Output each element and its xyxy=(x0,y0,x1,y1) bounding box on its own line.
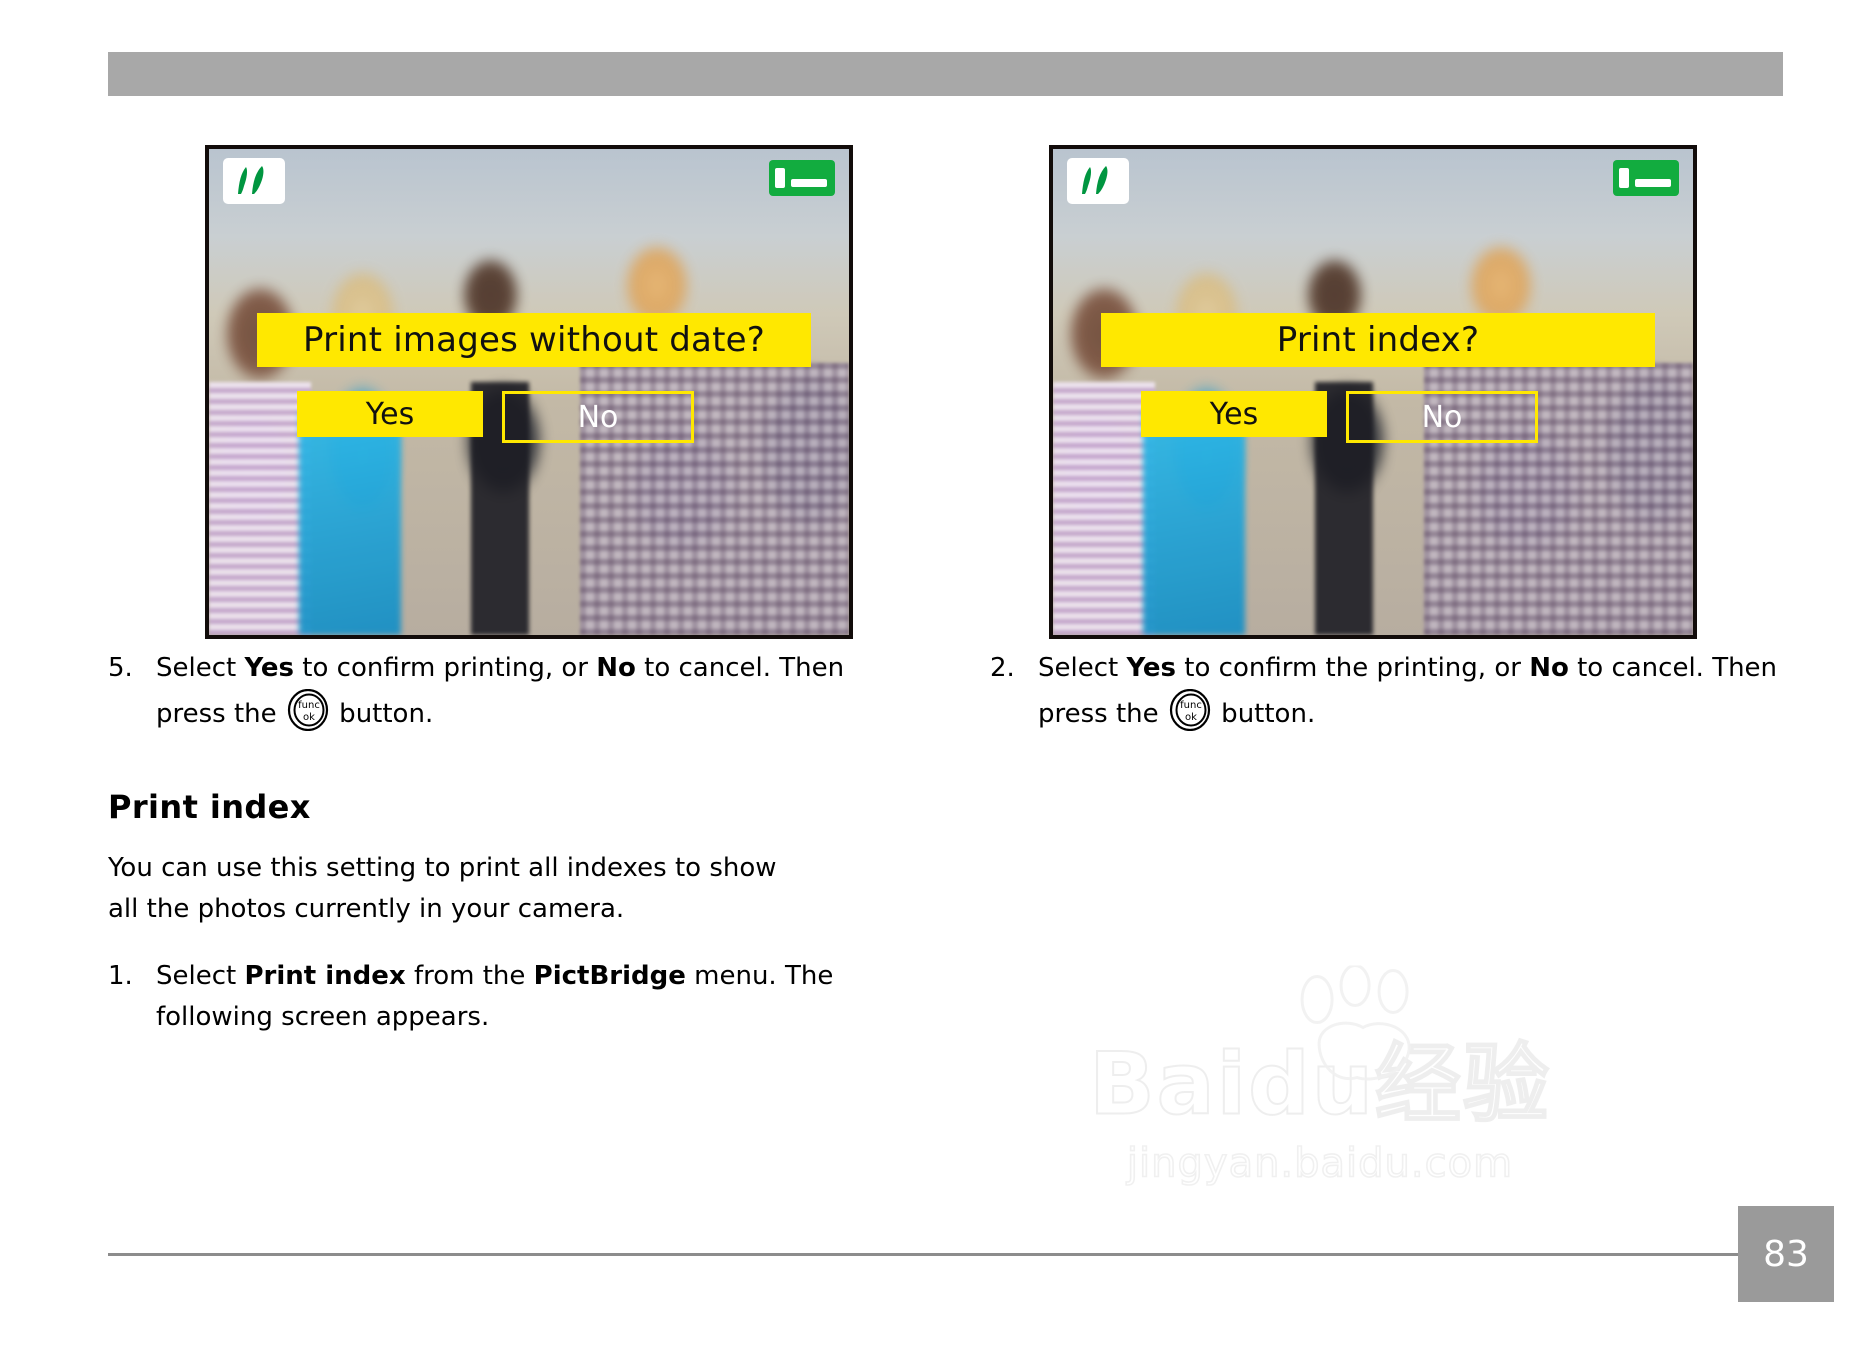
step-1-bold-pictbridge: PictBridge xyxy=(534,961,686,991)
print-index-description: You can use this setting to print all in… xyxy=(108,848,808,930)
func-ok-button-icon: func ok xyxy=(287,689,329,731)
step-5-part2: to confirm printing, or xyxy=(294,653,596,683)
right-text-column: 2. Select Yes to confirm the printing, o… xyxy=(990,648,1790,740)
func-ok-button-icon: func ok xyxy=(1169,689,1211,731)
left-text-column: 5. Select Yes to confirm printing, or No… xyxy=(108,648,898,1043)
section-heading-print-index: Print index xyxy=(108,788,898,826)
camera-screen-print-images-without-date: Print images without date? Yes No xyxy=(205,145,853,639)
dialog-title-print-index: Print index? xyxy=(1101,313,1655,367)
step-2: 2. Select Yes to confirm the printing, o… xyxy=(990,648,1790,734)
dialog-yes-button[interactable]: Yes xyxy=(297,391,483,437)
baidu-paw-icon xyxy=(1289,966,1439,1096)
watermark-sub-text: jingyan.baidu.com xyxy=(1089,1141,1551,1187)
footer-divider xyxy=(108,1253,1783,1256)
step-5-part1: Select xyxy=(156,653,244,683)
step-1-number: 1. xyxy=(108,956,156,1037)
svg-text:func: func xyxy=(298,700,320,711)
step-1-part1: Select xyxy=(156,961,244,991)
step-5-number: 5. xyxy=(108,648,156,734)
step-2-part4: button. xyxy=(1213,699,1315,729)
step-5-text: Select Yes to confirm printing, or No to… xyxy=(156,648,898,734)
step-5-part4: button. xyxy=(331,699,433,729)
header-bar xyxy=(108,52,1783,96)
step-2-bold-no: No xyxy=(1529,653,1569,683)
step-5-bold-no: No xyxy=(596,653,636,683)
photo-detail-blue-sleeve xyxy=(1143,411,1245,635)
camera-screen-print-index: Print index? Yes No xyxy=(1049,145,1697,639)
dialog-yes-button[interactable]: Yes xyxy=(1141,391,1327,437)
step-2-part2: to confirm the printing, or xyxy=(1176,653,1529,683)
step-1-part2: from the xyxy=(406,961,534,991)
pictbridge-icon xyxy=(223,158,285,204)
step-2-text: Select Yes to confirm the printing, or N… xyxy=(1038,648,1790,734)
battery-icon xyxy=(1613,160,1679,196)
step-1: 1. Select Print index from the PictBridg… xyxy=(108,956,898,1037)
dialog-title-print-images-without-date: Print images without date? xyxy=(257,313,811,367)
step-1-bold-print-index: Print index xyxy=(244,961,405,991)
svg-text:ok: ok xyxy=(303,712,315,723)
dialog-no-button[interactable]: No xyxy=(1346,391,1538,443)
photo-detail-blue-sleeve xyxy=(299,411,401,635)
pictbridge-icon xyxy=(1067,158,1129,204)
manual-page: Print images without date? Yes No Pri xyxy=(0,0,1871,1361)
page-number-badge: 83 xyxy=(1738,1206,1834,1302)
svg-text:func: func xyxy=(1180,700,1202,711)
step-1-text: Select Print index from the PictBridge m… xyxy=(156,956,898,1037)
step-2-number: 2. xyxy=(990,648,1038,734)
step-2-part1: Select xyxy=(1038,653,1126,683)
dialog-no-button[interactable]: No xyxy=(502,391,694,443)
baidu-watermark: Baidu经验 jingyan.baidu.com xyxy=(1089,1014,1551,1187)
step-5-bold-yes: Yes xyxy=(244,653,294,683)
battery-icon xyxy=(769,160,835,196)
step-2-bold-yes: Yes xyxy=(1126,653,1176,683)
step-5: 5. Select Yes to confirm printing, or No… xyxy=(108,648,898,734)
watermark-main-text: Baidu经验 xyxy=(1089,1014,1551,1139)
svg-text:ok: ok xyxy=(1185,712,1197,723)
